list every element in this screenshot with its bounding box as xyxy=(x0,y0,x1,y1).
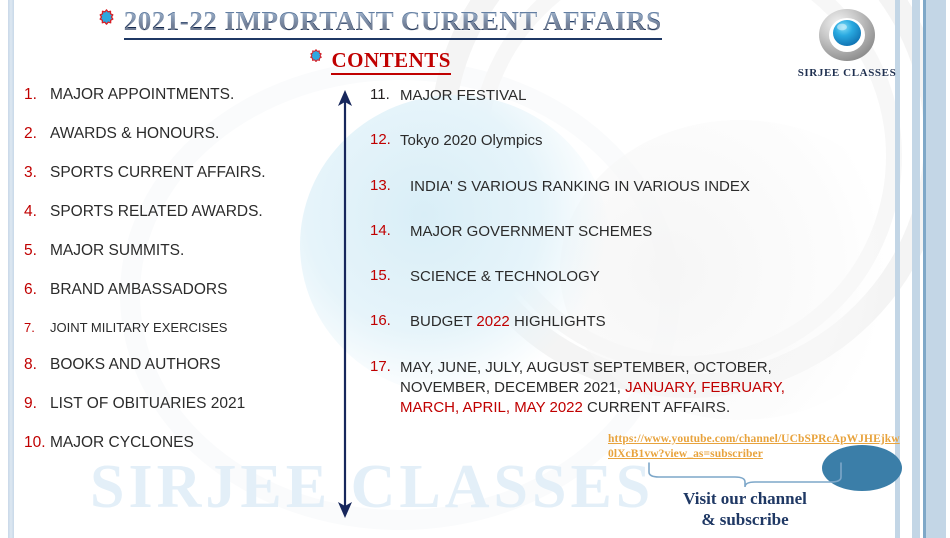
list-item-number: 2. xyxy=(24,125,50,143)
list-item-number: 6. xyxy=(24,281,50,299)
list-item-label: Tokyo 2020 Olympics xyxy=(400,131,840,151)
list-item-number: 15. xyxy=(370,267,400,284)
list-item-number: 10. xyxy=(24,434,50,452)
right-edge-bar xyxy=(946,0,950,538)
list-item[interactable]: 2. AWARDS & HONOURS. xyxy=(24,125,324,143)
list-item-label: JOINT MILITARY EXERCISES xyxy=(50,320,324,335)
right-edge-bar xyxy=(912,0,920,538)
brand-name: SIRJEE CLASSES xyxy=(792,67,902,79)
contents-row: CONTENTS xyxy=(0,48,760,75)
list-item[interactable]: 13. INDIA' S VARIOUS RANKING IN VARIOUS … xyxy=(370,177,840,197)
title-row: 2021-22 IMPORTANT CURRENT AFFAIRS xyxy=(0,6,760,40)
list-item-number: 8. xyxy=(24,356,50,374)
list-item-label: MAJOR FESTIVAL xyxy=(400,86,840,106)
brand-logo: SIRJEE CLASSES xyxy=(792,6,902,79)
list-item[interactable]: 9. LIST OF OBITUARIES 2021 xyxy=(24,395,324,413)
list-item-number: 4. xyxy=(24,203,50,221)
list-item-number: 5. xyxy=(24,242,50,260)
list-item[interactable]: 8. BOOKS AND AUTHORS xyxy=(24,356,324,374)
double-headed-vertical-arrow-icon xyxy=(330,88,360,520)
contents-left-column: 1. MAJOR APPOINTMENTS. 2. AWARDS & HONOU… xyxy=(24,86,324,473)
list-item-label: AWARDS & HONOURS. xyxy=(50,125,324,143)
list-item[interactable]: 1. MAJOR APPOINTMENTS. xyxy=(24,86,324,104)
list-item-label: MAJOR APPOINTMENTS. xyxy=(50,86,324,104)
item17-part2: CURRENT AFFAIRS. xyxy=(583,399,730,416)
list-item-label: MAJOR SUMMITS. xyxy=(50,242,324,260)
item16-year-highlight: 2022 xyxy=(476,313,509,330)
list-item-label: INDIA' S VARIOUS RANKING IN VARIOUS INDE… xyxy=(400,177,840,197)
left-edge-bar xyxy=(8,0,14,538)
ring-sphere-logo-icon xyxy=(815,6,879,66)
contents-right-column: 11. MAJOR FESTIVAL 12. Tokyo 2020 Olympi… xyxy=(370,86,840,418)
list-item[interactable]: 17. MAY, JUNE, JULY, AUGUST SEPTEMBER, O… xyxy=(370,358,840,419)
list-item-number: 11. xyxy=(370,86,400,103)
page-title: 2021-22 IMPORTANT CURRENT AFFAIRS xyxy=(124,6,662,40)
curly-brace-icon xyxy=(645,462,845,488)
list-item[interactable]: 6. BRAND AMBASSADORS xyxy=(24,281,324,299)
item16-post: HIGHLIGHTS xyxy=(510,313,606,330)
right-edge-bar-group xyxy=(892,0,950,538)
list-item[interactable]: 10. MAJOR CYCLONES xyxy=(24,434,324,452)
right-edge-bar xyxy=(926,0,946,538)
list-item[interactable]: 15. SCIENCE & TECHNOLOGY xyxy=(370,267,840,287)
list-item-number: 12. xyxy=(370,131,400,148)
item16-pre: BUDGET xyxy=(410,313,476,330)
list-item-number: 1. xyxy=(24,86,50,104)
list-item[interactable]: 7. JOINT MILITARY EXERCISES xyxy=(24,320,324,335)
list-item[interactable]: 3. SPORTS CURRENT AFFAIRS. xyxy=(24,164,324,182)
list-item-label: MAJOR GOVERNMENT SCHEMES xyxy=(400,222,840,242)
star-flower-icon xyxy=(309,49,323,68)
cta-line-1: Visit our channel xyxy=(620,488,870,509)
list-item-label: BRAND AMBASSADORS xyxy=(50,281,324,299)
list-item-label: BUDGET 2022 HIGHLIGHTS xyxy=(400,312,840,332)
list-item-number: 13. xyxy=(370,177,400,194)
contents-heading: CONTENTS xyxy=(331,48,451,75)
list-item-number: 17. xyxy=(370,358,400,375)
list-item-number: 7. xyxy=(24,320,50,335)
list-item[interactable]: 16. BUDGET 2022 HIGHLIGHTS xyxy=(370,312,840,332)
list-item-label: MAJOR CYCLONES xyxy=(50,434,324,452)
list-item[interactable]: 12. Tokyo 2020 Olympics xyxy=(370,131,840,151)
list-item-label: MAY, JUNE, JULY, AUGUST SEPTEMBER, OCTOB… xyxy=(400,358,840,419)
list-item-label: SCIENCE & TECHNOLOGY xyxy=(400,267,840,287)
cta-caption: Visit our channel & subscribe xyxy=(620,488,870,531)
list-item[interactable]: 4. SPORTS RELATED AWARDS. xyxy=(24,203,324,221)
star-flower-icon xyxy=(98,9,115,31)
list-item-number: 3. xyxy=(24,164,50,182)
list-item-label: BOOKS AND AUTHORS xyxy=(50,356,324,374)
list-item-number: 16. xyxy=(370,312,400,329)
list-item-number: 9. xyxy=(24,395,50,413)
list-item-label: SPORTS CURRENT AFFAIRS. xyxy=(50,164,324,182)
list-item-label: SPORTS RELATED AWARDS. xyxy=(50,203,324,221)
cta-line-2: & subscribe xyxy=(620,509,870,530)
youtube-channel-link[interactable]: https://www.youtube.com/channel/UCbSPRcA… xyxy=(608,432,900,462)
list-item[interactable]: 14. MAJOR GOVERNMENT SCHEMES xyxy=(370,222,840,242)
list-item[interactable]: 11. MAJOR FESTIVAL xyxy=(370,86,840,106)
list-item[interactable]: 5. MAJOR SUMMITS. xyxy=(24,242,324,260)
list-item-number: 14. xyxy=(370,222,400,239)
presentation-slide: SIRJEE CLASSES 2021-22 IMPORTANT CURRENT… xyxy=(0,0,950,538)
list-item-label: LIST OF OBITUARIES 2021 xyxy=(50,395,324,413)
